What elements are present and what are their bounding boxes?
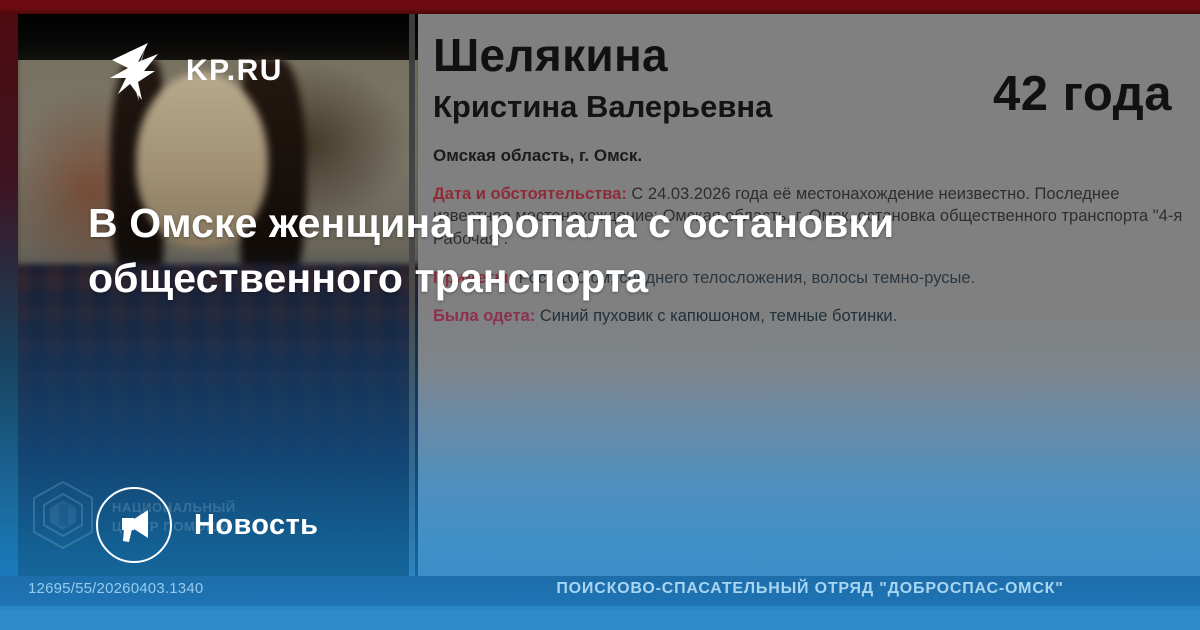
footer-id-code: 12695/55/20260403.1340 xyxy=(28,580,203,597)
footer-lower-band xyxy=(0,610,1200,630)
news-badge[interactable]: Новость xyxy=(96,487,318,563)
headline: В Омске женщина пропала с остановки обще… xyxy=(88,196,898,305)
poster-region: Омская область, г. Омск. xyxy=(433,146,1190,166)
footer-team-name: ПОИСКОВО-СПАСАТЕЛЬНЫЙ ОТРЯД "ДОБРОСПАС-О… xyxy=(440,580,1180,598)
poster-field-label: Была одета: xyxy=(433,307,535,325)
kp-logo-text: KP.RU xyxy=(186,54,283,88)
footer-bar: 12695/55/20260403.1340 ПОИСКОВО-СПАСАТЕЛ… xyxy=(0,576,1200,630)
news-card: Шелякина Кристина Валерьевна Омская обла… xyxy=(0,0,1200,630)
kp-logo[interactable]: KP.RU xyxy=(108,38,283,104)
swallow-bird-icon xyxy=(108,38,170,104)
news-badge-label: Новость xyxy=(194,509,318,542)
photo-left-frame xyxy=(0,14,18,576)
top-accent-bar xyxy=(0,0,1200,14)
poster-age: 42 года xyxy=(993,66,1172,122)
poster-field-clothing: Была одета: Синий пуховик с капюшоном, т… xyxy=(433,305,1190,327)
poster-field-value: Синий пуховик с капюшоном, темные ботинк… xyxy=(535,307,897,325)
megaphone-icon xyxy=(96,487,172,563)
